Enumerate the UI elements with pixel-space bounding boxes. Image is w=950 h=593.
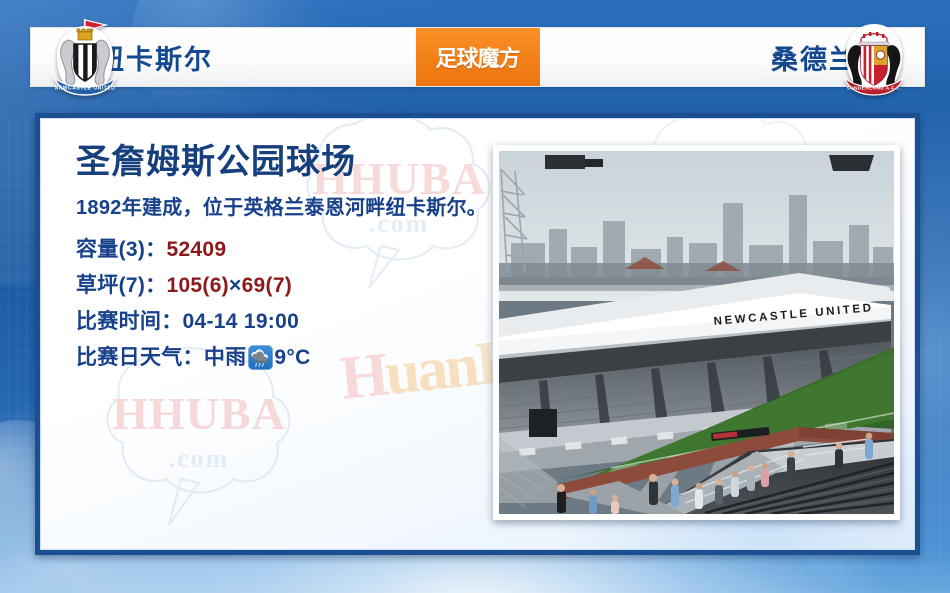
pitch-label: 草坪(7)： [76,268,166,304]
kickoff-row: 比赛时间： 04-14 19:00 [76,304,496,340]
watermark-hanzi: 欢呼吧 [292,552,465,555]
svg-text:HHUBA: HHUBA [112,388,286,439]
weather-row: 比赛日天气： 中雨 9°C [76,340,496,376]
stadium-title: 圣詹姆斯公园球场 [76,143,496,181]
weather-value: 中雨 [204,340,247,376]
stadium-info-text: 圣詹姆斯公园球场 1892年建成，位于英格兰泰恩河畔纽卡斯尔。 容量(3)： 5… [76,143,496,375]
stadium-description: 1892年建成，位于英格兰泰恩河畔纽卡斯尔。 [76,193,496,223]
match-header: NEWCASTLE UNITED 纽卡斯尔 足球魔方 桑德兰 [30,27,925,87]
away-team-block[interactable]: 桑德兰 [545,28,924,86]
svg-text:NEWCASTLE UNITED: NEWCASTLE UNITED [55,86,116,92]
stadium-detail-rows: 容量(3)： 52409 草坪(7)： 105(6) × 69(7) 比赛时间：… [76,232,496,375]
svg-text:.com: .com [169,444,230,473]
home-team-block[interactable]: NEWCASTLE UNITED 纽卡斯尔 [31,28,410,86]
capacity-row: 容量(3)： 52409 [76,232,496,268]
kickoff-label: 比赛时间： [76,304,183,340]
stadium-photo-frame[interactable]: NEWCASTLE UNITED [493,145,900,520]
pitch-width: 69(7) [242,268,293,304]
rain-cloud-icon [248,345,273,370]
brand-logo[interactable]: 足球魔方 [416,28,540,86]
temperature-value: 9°C [274,340,310,376]
weather-label: 比赛日天气： [76,340,204,376]
kickoff-value: 04-14 19:00 [183,304,300,340]
pitch-separator: × [229,268,242,304]
stadium-info-panel: HHUBA .com HHUBA .com .com HuanHu 欢呼吧 圣詹… [35,113,920,555]
brand-block[interactable]: 足球魔方 [410,28,545,86]
brand-label: 足球魔方 [435,41,519,73]
stadium-photo: NEWCASTLE UNITED [499,151,894,514]
capacity-value: 52409 [166,232,226,268]
pitch-row: 草坪(7)： 105(6) × 69(7) [76,268,496,304]
sunderland-afc-crest: SUNDERLAND A.F.C. [836,16,912,100]
svg-text:SUNDERLAND A.F.C.: SUNDERLAND A.F.C. [847,86,902,92]
newcastle-united-crest: NEWCASTLE UNITED [46,16,124,100]
pitch-length: 105(6) [166,268,229,304]
capacity-label: 容量(3)： [76,232,166,268]
